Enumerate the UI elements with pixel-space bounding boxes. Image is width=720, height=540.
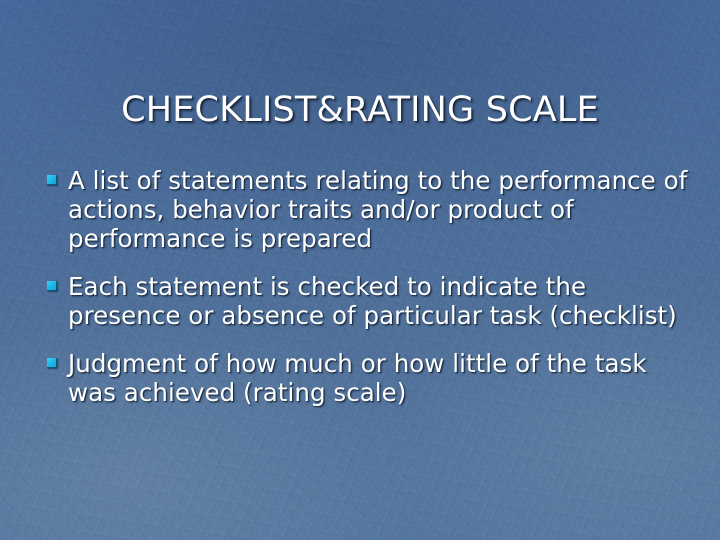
square-bullet-icon [47, 175, 57, 185]
list-item-text: Each statement is checked to indicate th… [68, 272, 700, 330]
page-title: CHECKLIST&RATING SCALE [0, 89, 720, 131]
bullet-list: A list of statements relating to the per… [40, 166, 700, 407]
square-bullet-icon [47, 358, 57, 368]
slide-content: CHECKLIST&RATING SCALE A list of stateme… [0, 0, 720, 540]
list-item-text: A list of statements relating to the per… [68, 166, 700, 253]
presentation-slide: CHECKLIST&RATING SCALE A list of stateme… [0, 0, 720, 540]
list-item: Each statement is checked to indicate th… [40, 272, 700, 330]
list-item-text: Judgment of how much or how little of th… [68, 349, 700, 407]
list-item: Judgment of how much or how little of th… [40, 349, 700, 407]
square-bullet-icon [47, 281, 57, 291]
list-item: A list of statements relating to the per… [40, 166, 700, 253]
